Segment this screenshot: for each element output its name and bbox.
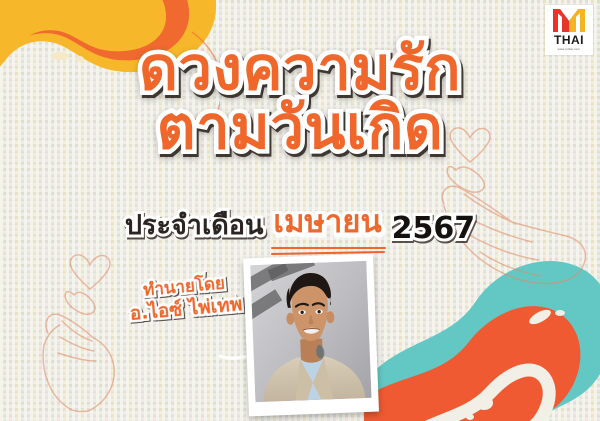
m-letter-icon xyxy=(552,7,586,33)
headline-line-1: ดวงความรัก xyxy=(0,38,600,100)
subtitle-block: ประจำเดือน เมษายน 2567 xyxy=(0,196,600,246)
portrait-illustration xyxy=(250,261,371,402)
poster-canvas: THAI www.mthai.com ดวงความรัก ตามวันเกิด… xyxy=(0,0,600,421)
headline-line-2: ตามวันเกิด xyxy=(0,96,600,160)
subtitle-month-wrap: เมษายน xyxy=(273,196,381,246)
subtitle-month: เมษายน xyxy=(273,204,381,240)
headline-block: ดวงความรัก ตามวันเกิด xyxy=(0,38,600,160)
astrologer-photo-frame xyxy=(243,254,379,417)
astrologer-photo xyxy=(250,261,371,402)
month-underline-upper xyxy=(271,247,385,249)
subtitle-prefix: ประจำเดือน xyxy=(125,203,264,246)
subtitle-year: 2567 xyxy=(392,211,476,246)
